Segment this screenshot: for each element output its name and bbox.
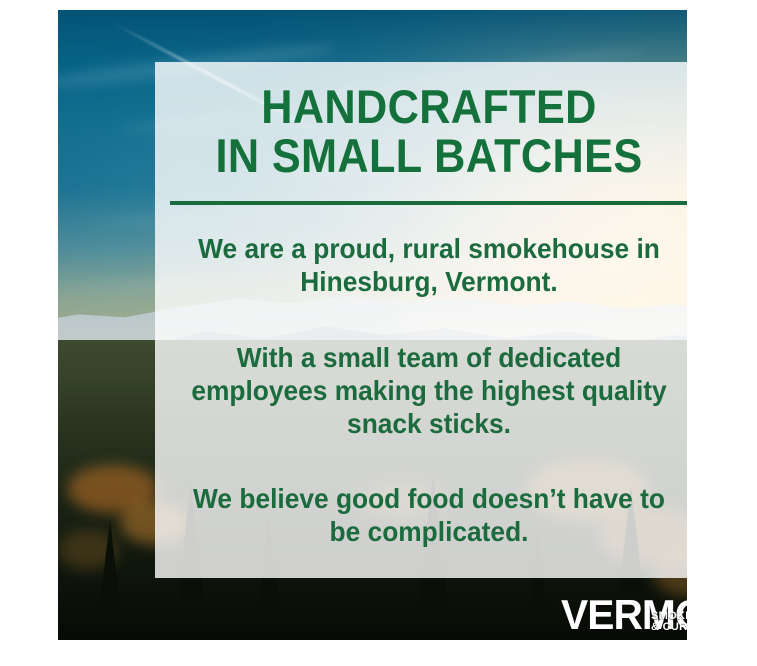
body-paragraph-1: We are a proud, rural smokehouse in Hine… [189,205,668,298]
body-paragraph-3: We believe good food doesn’t have to be … [189,440,668,548]
brand-tagline-line-2: & CURE [651,622,687,633]
body-paragraph-2: With a small team of dedicated employees… [189,298,668,440]
brand-logo: VERMONT SMOKE & CURE [558,594,687,638]
brand-tagline: SMOKE & CURE [651,611,687,633]
content-card: HANDCRAFTED IN SMALL BATCHES We are a pr… [155,62,687,578]
headline-line-1: HANDCRAFTED [177,82,681,131]
headline-line-2: IN SMALL BATCHES [177,131,681,180]
page-title: HANDCRAFTED IN SMALL BATCHES [177,62,681,180]
background-photo: HANDCRAFTED IN SMALL BATCHES We are a pr… [58,10,687,640]
